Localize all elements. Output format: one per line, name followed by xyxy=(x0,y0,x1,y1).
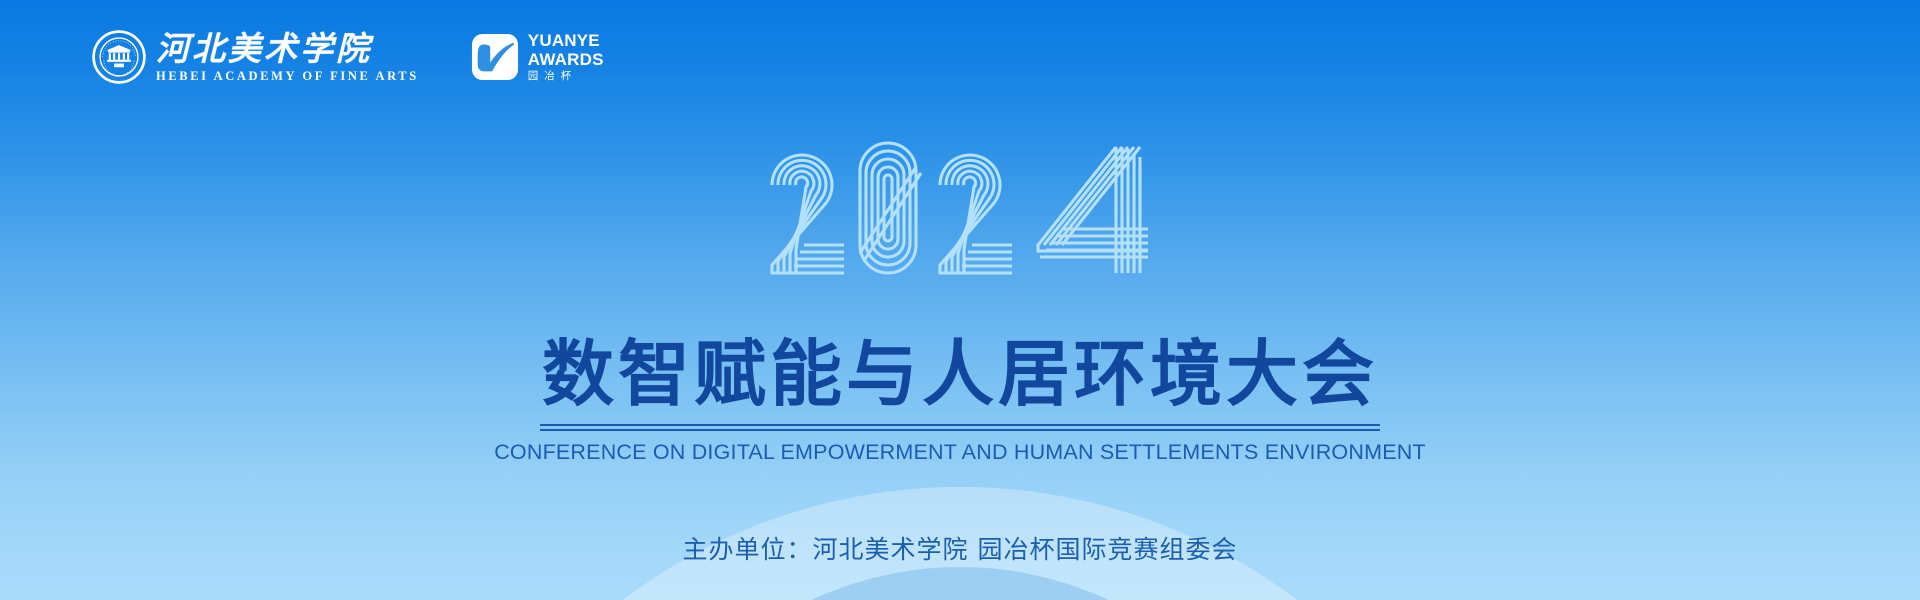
title-rule xyxy=(540,424,1380,431)
conference-title-cn: 数智赋能与人居环境大会 xyxy=(0,338,1920,410)
conference-banner: 河北美术学院 HEBEI ACADEMY OF FINE ARTS YUANYE… xyxy=(0,0,1920,600)
logo-row: 河北美术学院 HEBEI ACADEMY OF FINE ARTS YUANYE… xyxy=(92,30,604,84)
background-arc-inner xyxy=(610,567,1310,600)
yuanye-mark-icon xyxy=(471,33,519,81)
logo-yuanye-awards[interactable]: YUANYE AWARDS 园冶杯 xyxy=(471,32,604,82)
hebei-name-cn: 河北美术学院 xyxy=(156,32,419,65)
yuanye-name-cn: 园冶杯 xyxy=(528,71,604,82)
title-block: 数智赋能与人居环境大会 CONFERENCE ON DIGITAL EMPOWE… xyxy=(0,338,1920,465)
logo-hebei-academy[interactable]: 河北美术学院 HEBEI ACADEMY OF FINE ARTS xyxy=(92,30,419,84)
academy-seal-icon xyxy=(92,30,146,84)
title-rule-line-2 xyxy=(540,429,1380,431)
title-rule-line-1 xyxy=(540,424,1380,426)
year-2024-icon xyxy=(764,133,1156,283)
yuanye-line-2: AWARDS xyxy=(528,51,604,68)
hebei-text-block: 河北美术学院 HEBEI ACADEMY OF FINE ARTS xyxy=(156,32,419,83)
conference-title-en: CONFERENCE ON DIGITAL EMPOWERMENT AND HU… xyxy=(0,440,1920,465)
yuanye-line-1: YUANYE xyxy=(528,32,604,49)
organizer-line: 主办单位：河北美术学院 园冶杯国际竞赛组委会 xyxy=(0,530,1920,566)
yuanye-text-block: YUANYE AWARDS 园冶杯 xyxy=(528,32,604,82)
year-graphic xyxy=(764,133,1156,283)
hebei-name-en: HEBEI ACADEMY OF FINE ARTS xyxy=(156,70,419,83)
